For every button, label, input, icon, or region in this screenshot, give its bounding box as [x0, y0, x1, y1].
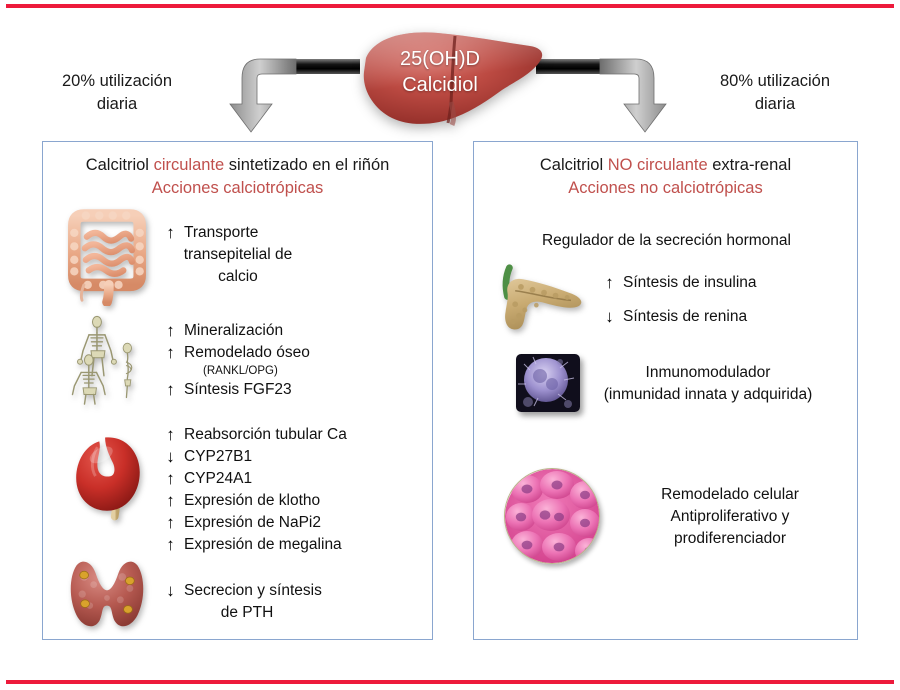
- up-arrow-icon: ↑: [163, 379, 178, 401]
- item-line: de PTH: [221, 604, 274, 621]
- left-group-parathyroid: ↓ Secrecion y síntesis de PTH: [55, 556, 331, 643]
- list-item: ↑ Síntesis FGF23: [163, 379, 310, 401]
- item-line: Secrecion y síntesis: [184, 580, 322, 602]
- right-utilization-label: 80% utilización diaria: [690, 70, 860, 116]
- immune-caption-line1: Inmunomodulador: [586, 362, 830, 384]
- item-line: Síntesis de insulina: [623, 272, 757, 294]
- cells-caption-line2: Antiproliferativo y: [612, 506, 848, 528]
- down-arrow-icon: ↓: [163, 580, 178, 602]
- kidney-icon: [55, 424, 159, 532]
- left-title-pre: Calcitriol: [86, 156, 154, 174]
- left-utilization-label: 20% utilización diaria: [32, 70, 202, 116]
- right-title-pre: Calcitriol: [540, 156, 608, 174]
- left-utilization-line1: 20% utilización: [32, 70, 202, 93]
- list-item: ↓ CYP27B1: [163, 446, 347, 468]
- thyroid-art: [55, 556, 163, 643]
- right-utilization-line2: diaria: [690, 93, 860, 116]
- list-item: ↑ Mineralización: [163, 320, 310, 342]
- item-line: calcio: [218, 268, 258, 285]
- list-item: ↑ Expresión de klotho: [163, 490, 347, 512]
- right-panel-title: Calcitriol NO circulante extra-renal: [474, 142, 857, 177]
- item-line: Reabsorción tubular Ca: [184, 424, 347, 446]
- up-arrow-icon: ↑: [163, 468, 178, 490]
- item-line: Expresión de klotho: [184, 490, 320, 512]
- item-line: Remodelado óseo: [184, 342, 310, 364]
- left-panel-title: Calcitriol circulante sintetizado en el …: [43, 142, 432, 177]
- cells-caption-line3: prodiferenciador: [612, 528, 848, 550]
- left-flow-connector: [200, 52, 360, 137]
- down-arrow-icon: ↓: [163, 446, 178, 468]
- liver-icon: [352, 24, 548, 134]
- kidney-items: ↑ Reabsorción tubular Ca ↓ CYP27B1 ↑ CYP…: [163, 424, 347, 556]
- item-line: transepitelial de: [184, 246, 293, 263]
- left-utilization-line2: diaria: [32, 93, 202, 116]
- right-panel-subtitle: Acciones no calciotrópicas: [474, 177, 857, 200]
- down-arrow-icon: ↓: [602, 306, 617, 328]
- item-line: Síntesis FGF23: [184, 379, 292, 401]
- up-arrow-icon: ↑: [163, 342, 178, 364]
- item-line: Síntesis de renina: [623, 306, 747, 328]
- lymphocyte-icon: [516, 354, 580, 412]
- pancreas-icon: [492, 260, 598, 335]
- right-utilization-line1: 80% utilización: [690, 70, 860, 93]
- liver-graphic: 25(OH)D Calcidiol: [352, 24, 548, 134]
- up-arrow-icon: ↑: [163, 320, 178, 342]
- list-item-cont: de PTH: [163, 602, 331, 624]
- right-title-post: extra-renal: [708, 156, 791, 174]
- up-arrow-icon: ↑: [163, 424, 178, 446]
- top-accent-rule: [6, 4, 894, 8]
- right-group-immune: Inmunomodulador (inmunidad innata y adqu…: [516, 354, 830, 412]
- cells-caption: Remodelado celular Antiproliferativo y p…: [612, 468, 848, 550]
- list-item: ↑ Remodelado óseo: [163, 342, 310, 364]
- right-flow-connector: [536, 52, 696, 137]
- cells-art: [504, 468, 600, 564]
- skeleton-art: [55, 314, 163, 411]
- list-item: ↑ Reabsorción tubular Ca: [163, 424, 347, 446]
- item-line: Mineralización: [184, 320, 283, 342]
- left-group-kidney: ↑ Reabsorción tubular Ca ↓ CYP27B1 ↑ CYP…: [55, 424, 347, 556]
- left-group-intestine: ↑ Transporte transepitelial de calcio: [55, 204, 313, 311]
- item-line: CYP27B1: [184, 446, 252, 468]
- up-arrow-icon: ↑: [602, 272, 617, 294]
- list-item: ↑ Transporte: [163, 222, 313, 244]
- list-item: ↑ Síntesis de insulina: [602, 272, 757, 294]
- bone-items: ↑ Mineralización ↑ Remodelado óseo (RANK…: [163, 314, 310, 401]
- left-title-post: sintetizado en el riñón: [224, 156, 389, 174]
- cells-icon: [505, 469, 600, 564]
- item-line: Expresión de NaPi2: [184, 512, 321, 534]
- immune-caption: Inmunomodulador (inmunidad innata y adqu…: [586, 354, 830, 406]
- right-panel: Calcitriol NO circulante extra-renal Acc…: [473, 141, 858, 640]
- list-item: ↓ Secrecion y síntesis: [163, 580, 331, 602]
- right-title-highlight: NO circulante: [608, 156, 708, 174]
- list-item-cont: calcio: [163, 266, 313, 288]
- item-note: (RANKL/OPG): [171, 364, 310, 379]
- item-line: Transporte: [184, 224, 258, 241]
- list-item: ↓ Síntesis de renina: [602, 306, 757, 328]
- kidney-art: [55, 424, 163, 537]
- left-panel: Calcitriol circulante sintetizado en el …: [42, 141, 433, 640]
- right-group-pancreas: ↑ Síntesis de insulina ↓ Síntesis de ren…: [492, 260, 757, 340]
- up-arrow-icon: ↑: [163, 222, 178, 244]
- intestine-icon: [55, 204, 159, 306]
- thyroid-parathyroid-icon: [55, 556, 159, 638]
- bottom-accent-rule: [6, 680, 894, 684]
- up-arrow-icon: ↑: [163, 490, 178, 512]
- list-item: ↑ Expresión de megalina: [163, 534, 347, 556]
- intestine-items: ↑ Transporte transepitelial de calcio: [163, 204, 313, 288]
- hormonal-heading: Regulador de la secreción hormonal: [474, 232, 859, 250]
- item-line: CYP24A1: [184, 468, 252, 490]
- diagram-canvas: 25(OH)D Calcidiol 20% utilización diaria…: [0, 0, 900, 690]
- cells-caption-line1: Remodelado celular: [612, 484, 848, 506]
- left-group-bone: ↑ Mineralización ↑ Remodelado óseo (RANK…: [55, 314, 310, 411]
- right-group-cells: Remodelado celular Antiproliferativo y p…: [504, 468, 848, 564]
- pancreas-items: ↑ Síntesis de insulina ↓ Síntesis de ren…: [602, 260, 757, 328]
- up-arrow-icon: ↑: [163, 534, 178, 556]
- pancreas-art: [492, 260, 602, 340]
- item-line: Expresión de megalina: [184, 534, 342, 556]
- intestine-art: [55, 204, 163, 311]
- list-item-cont: transepitelial de: [163, 244, 313, 266]
- parathyroid-items: ↓ Secrecion y síntesis de PTH: [163, 556, 331, 624]
- list-item: ↑ CYP24A1: [163, 468, 347, 490]
- skeleton-icon: [55, 314, 159, 406]
- left-panel-subtitle: Acciones calciotrópicas: [43, 177, 432, 200]
- immune-caption-line2: (inmunidad innata y adquirida): [586, 384, 830, 406]
- left-title-highlight: circulante: [154, 156, 225, 174]
- list-item: ↑ Expresión de NaPi2: [163, 512, 347, 534]
- lymphocyte-art: [516, 354, 580, 412]
- up-arrow-icon: ↑: [163, 512, 178, 534]
